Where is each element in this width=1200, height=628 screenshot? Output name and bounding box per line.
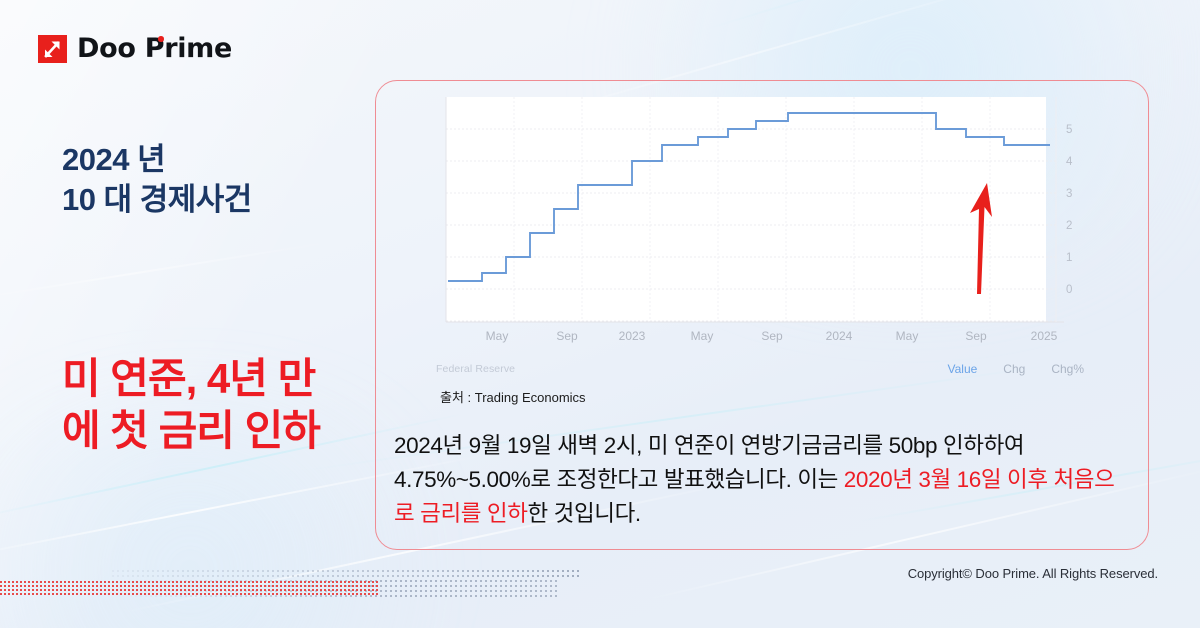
page-kicker: 2024 년 10 대 경제사건 xyxy=(62,140,252,219)
svg-text:2024: 2024 xyxy=(826,329,853,343)
chart-xtick-labels: May Sep 2023 May Sep 2024 May Sep 2025 xyxy=(486,329,1058,343)
chart-svg: 5 4 3 2 1 0 May Sep 2023 May Sep 2024 Ma… xyxy=(436,89,1084,389)
chart-footer-row: Federal Reserve Value Chg Chg% xyxy=(436,362,1084,376)
content-card: 5 4 3 2 1 0 May Sep 2023 May Sep 2024 Ma… xyxy=(375,80,1149,550)
svg-text:2: 2 xyxy=(1066,220,1072,232)
svg-text:1: 1 xyxy=(1066,252,1072,264)
svg-text:3: 3 xyxy=(1066,188,1072,200)
svg-text:May: May xyxy=(486,329,509,343)
copyright-notice: Copyright© Doo Prime. All Rights Reserve… xyxy=(908,566,1158,581)
chart-ytick-labels: 5 4 3 2 1 0 xyxy=(1066,124,1073,296)
chart-source-label: Federal Reserve xyxy=(436,363,515,375)
logo-dot-accent xyxy=(158,36,164,42)
red-dot-bar xyxy=(0,581,378,597)
body-paragraph: 2024년 9월 19일 새벽 2시, 미 연준이 연방기금금리를 50bp 인… xyxy=(394,429,1134,532)
svg-text:Sep: Sep xyxy=(761,329,783,343)
svg-text:5: 5 xyxy=(1066,124,1072,136)
tab-chg-percent[interactable]: Chg% xyxy=(1051,362,1084,376)
grey-dot-bar-top xyxy=(112,570,580,579)
svg-text:2025: 2025 xyxy=(1031,329,1058,343)
logo-wordmark: Doo Prime xyxy=(77,33,232,64)
source-attribution: 출처 : Trading Economics xyxy=(440,387,586,406)
svg-text:May: May xyxy=(691,329,714,343)
svg-text:Sep: Sep xyxy=(965,329,987,343)
svg-text:4: 4 xyxy=(1066,156,1073,168)
page-headline: 미 연준, 4년 만 에 첫 금리 인하 xyxy=(62,353,320,457)
doo-prime-arrow-mark-icon xyxy=(38,34,68,64)
body-text-part2: 한 것입니다. xyxy=(528,501,641,526)
svg-text:2023: 2023 xyxy=(619,329,646,343)
brand-logo: Doo Prime xyxy=(38,33,232,64)
fed-funds-rate-chart: 5 4 3 2 1 0 May Sep 2023 May Sep 2024 Ma… xyxy=(436,89,1084,389)
svg-text:0: 0 xyxy=(1066,284,1072,296)
tab-value[interactable]: Value xyxy=(947,362,977,376)
svg-text:May: May xyxy=(896,329,919,343)
chart-column-tabs: Value Chg Chg% xyxy=(947,362,1084,376)
tab-chg[interactable]: Chg xyxy=(1003,362,1025,376)
svg-text:Sep: Sep xyxy=(556,329,578,343)
